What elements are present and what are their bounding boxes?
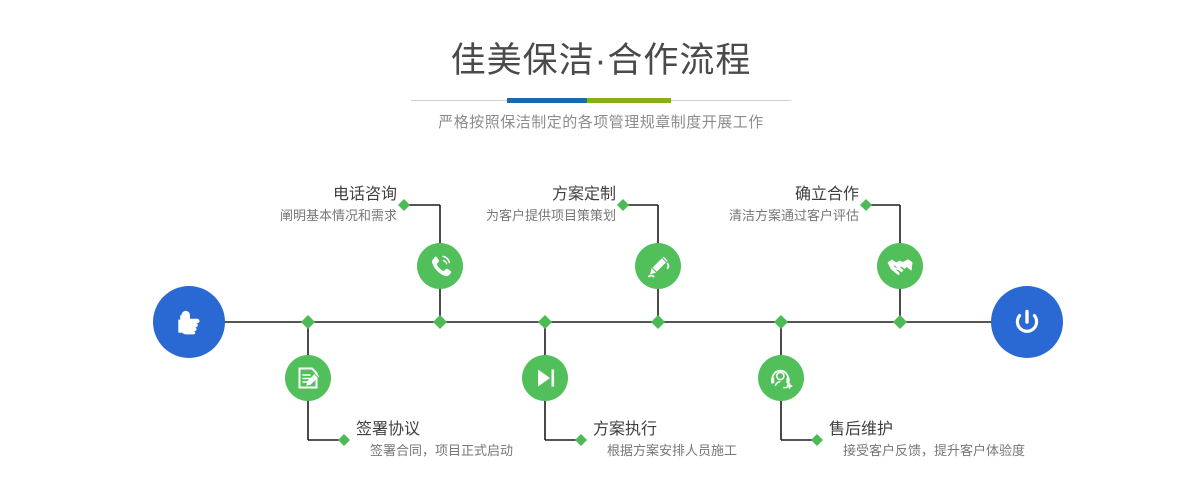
flow-label-1-desc: 阐明基本情况和需求 [280, 206, 397, 226]
flow-end-endpoint[interactable] [991, 286, 1063, 358]
flow-label-1: 电话咨询 阐明基本情况和需求 [280, 184, 397, 226]
flow-label-6-title: 售后维护 [829, 419, 1025, 441]
flow-label-6: 售后维护 接受客户反馈，提升客户体验度 [829, 419, 1025, 461]
flow-node-1[interactable] [417, 243, 463, 289]
document-pencil-icon [293, 363, 323, 393]
flow-label-6-desc: 接受客户反馈，提升客户体验度 [829, 441, 1025, 461]
flow-label-4-title: 方案执行 [593, 419, 737, 441]
play-next-icon [530, 363, 560, 393]
phone-call-icon [425, 251, 455, 281]
flow-label-2-desc: 签署合同，项目正式启动 [356, 441, 513, 461]
flow-label-4-desc: 根据方案安排人员施工 [593, 441, 737, 461]
flow-node-4[interactable] [522, 355, 568, 401]
flow-label-5-title: 确立合作 [729, 184, 859, 206]
flow-diagram: 电话咨询 阐明基本情况和需求 签署协议 签署合同，项目正式启动 [0, 0, 1202, 502]
flow-label-3-title: 方案定制 [486, 184, 616, 206]
flow-label-5-desc: 清洁方案通过客户评估 [729, 206, 859, 226]
flow-node-3[interactable] [635, 243, 681, 289]
flow-node-6[interactable] [758, 355, 804, 401]
handshake-icon [885, 251, 915, 281]
cooperation-flow-page: 佳美保洁·合作流程 严格按照保洁制定的各项管理规章制度开展工作 [0, 0, 1202, 502]
flow-label-3: 方案定制 为客户提供项目策策划 [486, 184, 616, 226]
flow-label-3-desc: 为客户提供项目策策划 [486, 206, 616, 226]
flow-label-5: 确立合作 清洁方案通过客户评估 [729, 184, 859, 226]
flow-label-2: 签署协议 签署合同，项目正式启动 [356, 419, 513, 461]
flow-label-1-title: 电话咨询 [280, 184, 397, 206]
flow-label-4: 方案执行 根据方案安排人员施工 [593, 419, 737, 461]
power-icon [1007, 302, 1047, 342]
pencil-design-icon [643, 251, 673, 281]
pointing-hand-icon [169, 302, 209, 342]
headset-support-icon [766, 363, 796, 393]
flow-label-2-title: 签署协议 [356, 419, 513, 441]
flow-node-5[interactable] [877, 243, 923, 289]
flow-start-endpoint[interactable] [153, 286, 225, 358]
flow-node-2[interactable] [285, 355, 331, 401]
